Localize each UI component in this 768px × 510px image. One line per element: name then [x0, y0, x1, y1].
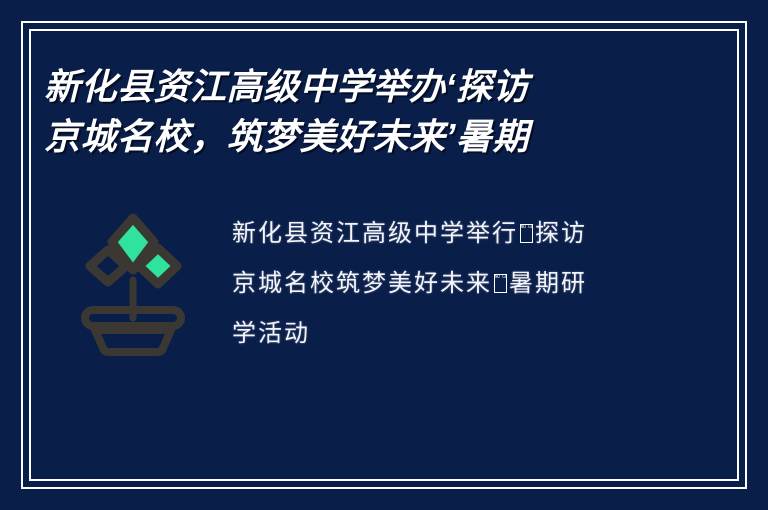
body-line-3-before: 学活动: [232, 319, 310, 347]
body-line-2-before: 京城名校筑梦美好未来: [232, 269, 492, 297]
missing-glyph-box-2: NO GLYPH: [494, 274, 507, 293]
body-line-1-after: 探访: [535, 219, 587, 247]
missing-glyph-box-1: NO GLYPH: [520, 224, 533, 243]
poster-canvas: 新化县资江高级中学举办‘探访 京城名校，筑梦美好未来’暑期 新化县资江高级中学举…: [0, 0, 768, 510]
poster-title-line-2: 京城名校，筑梦美好未来’暑期: [44, 112, 624, 162]
poster-title: 新化县资江高级中学举办‘探访 京城名校，筑梦美好未来’暑期: [44, 62, 624, 162]
body-text-line-3: 学活动: [232, 308, 692, 358]
poster-title-line-1: 新化县资江高级中学举办‘探访: [44, 62, 624, 112]
body-text-line-2: 京城名校筑梦美好未来NO GLYPH暑期研: [232, 258, 692, 308]
body-text-line-1: 新化县资江高级中学举行NO GLYPH探访: [232, 208, 692, 258]
body-line-2-after: 暑期研: [509, 269, 587, 297]
body-line-1-before: 新化县资江高级中学举行: [232, 219, 518, 247]
poster-body-text: 新化县资江高级中学举行NO GLYPH探访 京城名校筑梦美好未来NO GLYPH…: [232, 208, 692, 358]
potted-plant-icon: [78, 208, 188, 356]
